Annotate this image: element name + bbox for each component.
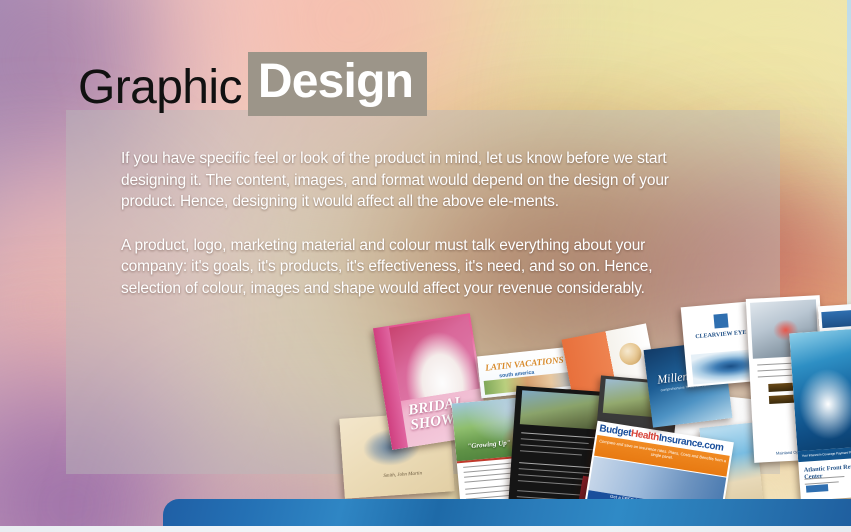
body-paragraph-1: If you have specific feel or look of the…	[121, 148, 711, 213]
bottom-edge-strip	[0, 526, 851, 532]
text-line	[518, 480, 582, 485]
bridal-photo	[389, 315, 480, 401]
ocean-wave-button	[806, 484, 828, 493]
text-line	[519, 468, 589, 474]
text-line	[521, 438, 589, 444]
black-trifold-photo	[520, 390, 606, 430]
print-samples-collage: Smith, John Martin BRIDAL SHOW LATIN VAC…	[352, 305, 851, 515]
text-line	[521, 432, 597, 438]
page-title-highlight-box: Design	[248, 52, 427, 116]
text-line	[520, 444, 598, 450]
orange-card-emblem-icon	[618, 341, 644, 367]
ocean-wave-photo	[789, 327, 851, 451]
body-paragraph-2: A product, logo, marketing material and …	[121, 235, 711, 300]
clearview-logo-icon	[713, 313, 728, 328]
bottom-blue-bar	[163, 499, 851, 526]
text-line	[519, 462, 595, 468]
page-title-boxed: Design	[258, 55, 413, 108]
page-title-plain: Graphic	[78, 64, 242, 116]
body-copy: If you have specific feel or look of the…	[121, 148, 711, 299]
text-line	[520, 450, 582, 455]
collage-ocean-wave-brochure: Your Interest in Coverage Payment Plans …	[789, 327, 851, 501]
small-card-blue-block	[821, 310, 851, 328]
page-title: Graphic Design	[78, 52, 427, 116]
certificate-signature: Smith, John Martin	[383, 471, 422, 479]
graphic-design-banner: Graphic Design If you have specific feel…	[0, 0, 851, 532]
right-edge-strip	[847, 0, 851, 330]
